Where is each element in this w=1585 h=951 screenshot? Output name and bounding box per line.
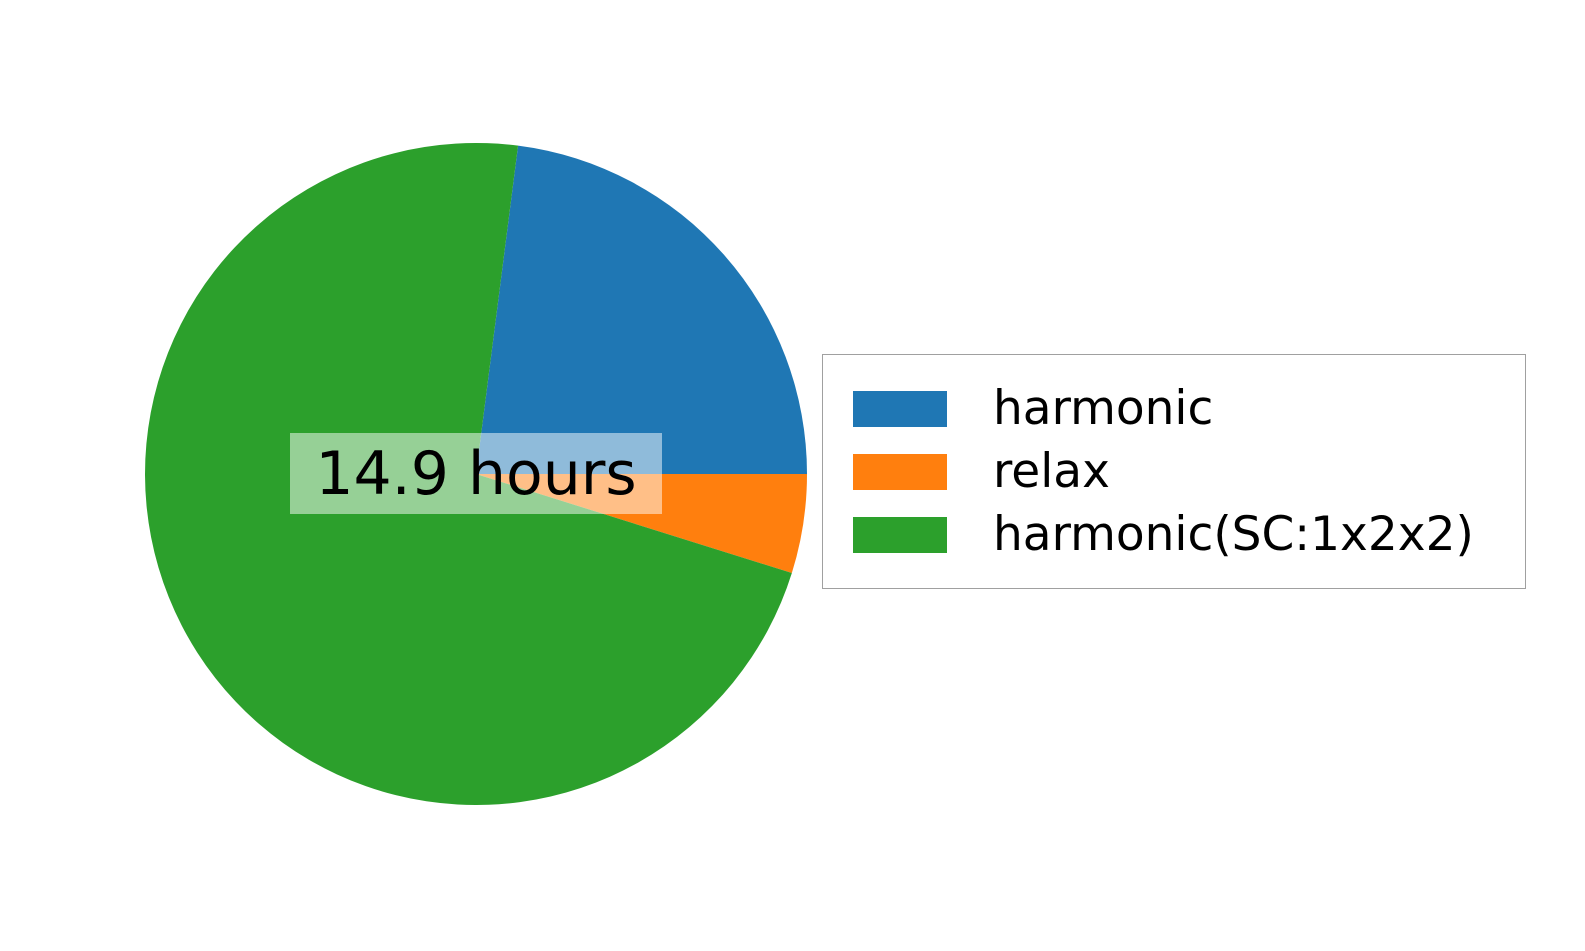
center-total-label: 14.9 hours: [290, 433, 662, 514]
legend-item-harmonic[interactable]: harmonic: [823, 377, 1525, 440]
legend-swatch-harmonic: [853, 391, 947, 427]
pie-slice-harmonic[interactable]: [476, 146, 807, 474]
legend-swatch-harmonic-sc: [853, 517, 947, 553]
legend-label-harmonic-sc: harmonic(SC:1x2x2): [993, 511, 1474, 558]
legend-label-relax: relax: [993, 448, 1110, 495]
legend-item-harmonic-sc[interactable]: harmonic(SC:1x2x2): [823, 503, 1525, 566]
center-total-text: 14.9 hours: [315, 444, 636, 504]
legend-label-harmonic: harmonic: [993, 385, 1213, 432]
legend-item-relax[interactable]: relax: [823, 440, 1525, 503]
legend-swatch-relax: [853, 454, 947, 490]
pie-chart-figure: 14.9 hours harmonic relax harmonic(SC:1x…: [0, 0, 1585, 951]
legend: harmonic relax harmonic(SC:1x2x2): [822, 354, 1526, 589]
